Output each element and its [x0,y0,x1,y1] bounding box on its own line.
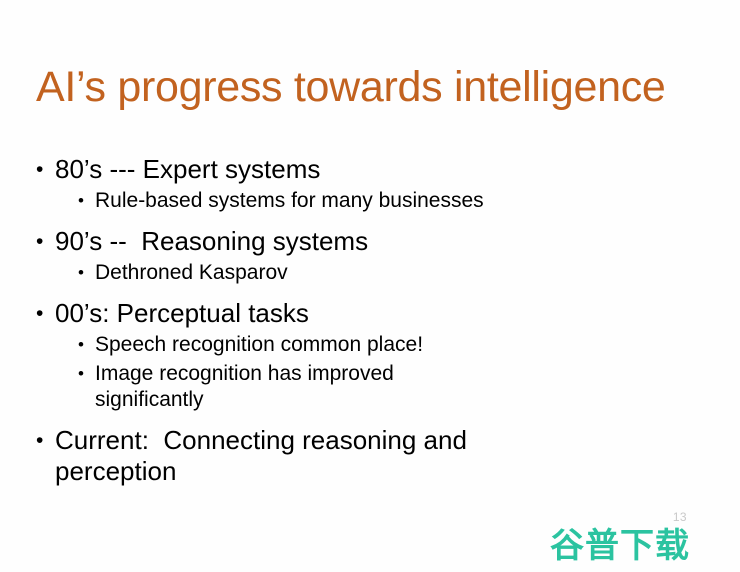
list-item: •Dethroned Kasparov [78,260,506,286]
bullet-marker-icon: • [36,226,55,257]
list-item-label: Image recognition has improved significa… [95,361,506,413]
slide-canvas: AI’s progress towards intelligence •80’s… [0,0,740,572]
list-item: •90’s -- Reasoning systems [36,226,506,257]
bullet-marker-icon: • [78,332,95,358]
page-number: 13 [673,510,687,524]
list-item: •Rule-based systems for many businesses [78,188,506,214]
list-item-label: 90’s -- Reasoning systems [55,226,506,257]
list-item-label: 80’s --- Expert systems [55,154,506,185]
list-item: •Speech recognition common place! [78,332,506,358]
list-item-label: Speech recognition common place! [95,332,506,358]
bullet-marker-icon: • [78,361,95,387]
list-spacer [36,286,506,294]
list-item-label: 00’s: Perceptual tasks [55,298,506,329]
bullet-marker-icon: • [36,298,55,329]
page-title: AI’s progress towards intelligence [36,62,716,112]
list-spacer [36,413,506,421]
list-item: •00’s: Perceptual tasks [36,298,506,329]
bullet-marker-icon: • [78,260,95,286]
bullet-marker-icon: • [36,154,55,185]
list-item-label: Rule-based systems for many businesses [95,188,506,214]
list-item-label: Current: Connecting reasoning and percep… [55,425,506,487]
list-item: •Image recognition has improved signific… [78,361,506,413]
bullet-marker-icon: • [78,188,95,214]
watermark-logo: 谷普下载 [550,526,690,566]
list-item: •Current: Connecting reasoning and perce… [36,425,506,487]
list-spacer [36,214,506,222]
list-item-label: Dethroned Kasparov [95,260,506,286]
bullet-marker-icon: • [36,425,55,456]
list-item: •80’s --- Expert systems [36,154,506,185]
bullet-list: •80’s --- Expert systems•Rule-based syst… [36,150,506,487]
